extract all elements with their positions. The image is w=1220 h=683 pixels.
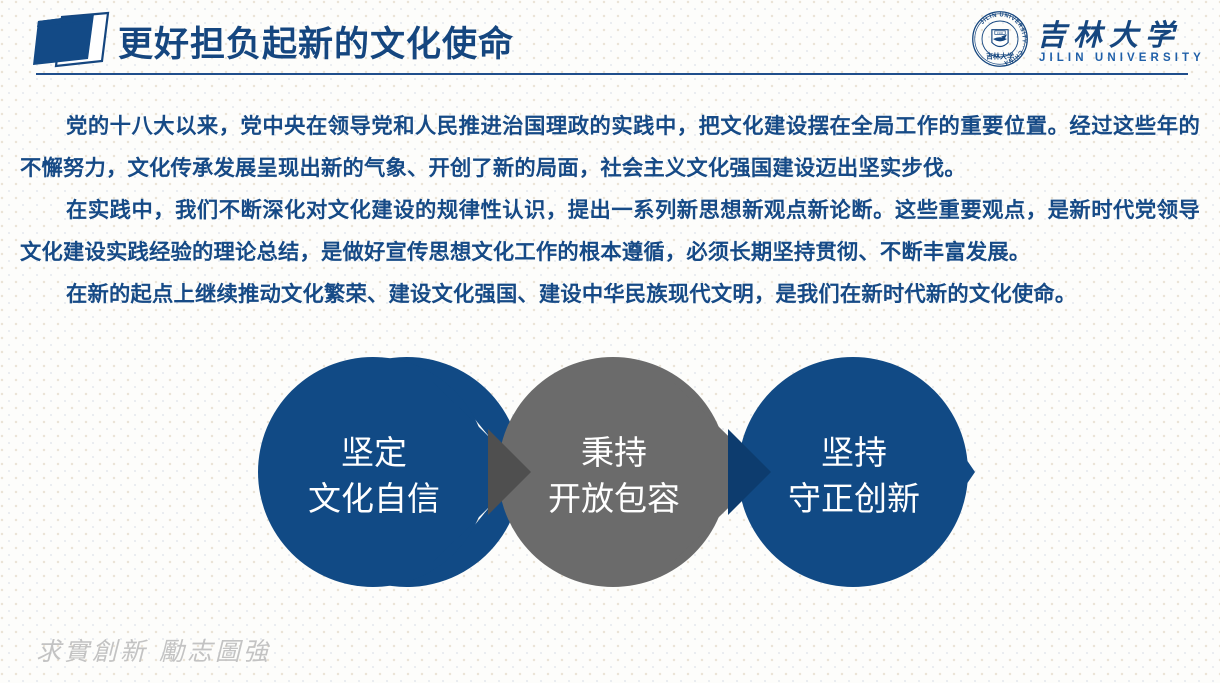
header-divider xyxy=(36,73,1188,75)
university-seal-icon: JILIN UNIVERSITY · CHINA 1946 吉林大学 xyxy=(971,10,1029,68)
slide: 更好担负起新的文化使命 JILIN UNIVERSITY · CHINA xyxy=(0,0,1220,683)
chevron-step-2[interactable]: 秉持 开放包容 xyxy=(488,357,765,587)
svg-text:吉林大学: 吉林大学 xyxy=(986,52,1014,61)
logo-name-cn: 吉林大学 xyxy=(1037,12,1181,54)
page-title: 更好担负起新的文化使命 xyxy=(118,16,514,67)
chevron-1-line2: 文化自信 xyxy=(308,479,440,518)
paragraph-3: 在新的起点上继续推动文化繁荣、建设文化强国、建设中华民族现代文明，是我们在新时代… xyxy=(20,274,1200,316)
chevron-step-3[interactable]: 坚持 守正创新 xyxy=(728,357,975,587)
book-icon xyxy=(32,11,110,69)
chevron-3-line2: 守正创新 xyxy=(788,479,920,518)
paragraph-2: 在实践中，我们不断深化对文化建设的规律性认识，提出一系列新思想新观点新论断。这些… xyxy=(20,190,1200,274)
logo-name-en: JILIN UNIVERSITY xyxy=(1039,52,1205,64)
svg-text:1946: 1946 xyxy=(997,31,1003,35)
chevron-3-line1: 坚持 xyxy=(821,433,887,472)
chevron-flow-diagram: 坚定 文化自信 秉持 开放包容 坚持 守正创新 xyxy=(248,352,978,592)
body-copy: 党的十八大以来，党中央在领导党和人民推进治国理政的实践中，把文化建设摆在全局工作… xyxy=(20,106,1200,316)
chevron-step-1[interactable]: 坚定 文化自信 xyxy=(258,357,525,587)
chevron-1-line1: 坚定 xyxy=(341,433,407,472)
chevron-2-line1: 秉持 xyxy=(581,433,647,472)
slide-header: 更好担负起新的文化使命 JILIN UNIVERSITY · CHINA xyxy=(0,0,1220,84)
footer-motto: 求實創新 勵志圖強 xyxy=(36,632,271,668)
university-logo: JILIN UNIVERSITY · CHINA 1946 吉林大学 吉林大学 … xyxy=(971,10,1186,70)
chevron-2-line2: 开放包容 xyxy=(548,479,680,518)
paragraph-1: 党的十八大以来，党中央在领导党和人民推进治国理政的实践中，把文化建设摆在全局工作… xyxy=(20,106,1200,190)
